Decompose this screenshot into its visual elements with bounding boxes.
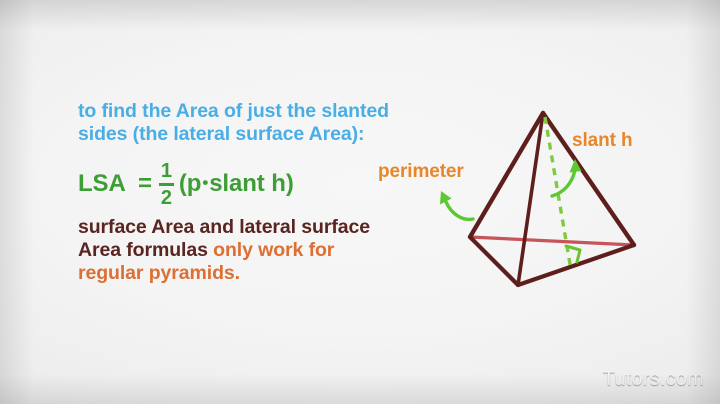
formula-multiplication-dot: • <box>201 173 209 193</box>
note-line-2-highlight: only work for <box>213 239 334 261</box>
pyramid-base-edge-front-right <box>518 245 634 285</box>
label-slant-h: slant h <box>572 130 633 152</box>
perimeter-arrow <box>446 202 473 219</box>
formula-fraction-one-half: 1 2 <box>159 161 174 208</box>
note-line-2-plain: Area formulas <box>78 239 213 261</box>
formula-right-side: slant h) <box>209 170 294 198</box>
formula-open-paren-p: (p <box>179 170 201 198</box>
formula-left-side: LSA = <box>78 170 152 198</box>
fraction-denominator: 2 <box>161 187 172 208</box>
intro-line-2: sides (the lateral surface Area): <box>78 123 364 145</box>
pyramid-edge-apex-front <box>518 113 543 285</box>
pyramid-base-edge-left-front <box>470 237 518 285</box>
fraction-numerator: 1 <box>161 161 172 182</box>
lsa-formula: LSA = 1 2 (p • slant h) <box>78 160 294 207</box>
slide-canvas: to find the Area of just the slanted sid… <box>0 0 720 404</box>
intro-text-block: to find the Area of just the slanted sid… <box>78 100 389 146</box>
pyramid-back-base-edge <box>470 237 634 245</box>
note-text-block: surface Area and lateral surface Area fo… <box>78 216 370 285</box>
note-line-3-highlight: regular pyramids. <box>78 262 240 284</box>
intro-line-1: to find the Area of just the slanted <box>78 100 389 122</box>
label-perimeter: perimeter <box>378 161 464 183</box>
fraction-bar <box>159 183 174 186</box>
note-line-1: surface Area and lateral surface <box>78 216 370 238</box>
watermark-tutors-com: Tutors.com <box>603 368 704 391</box>
pyramid-edge-apex-left <box>470 113 543 237</box>
